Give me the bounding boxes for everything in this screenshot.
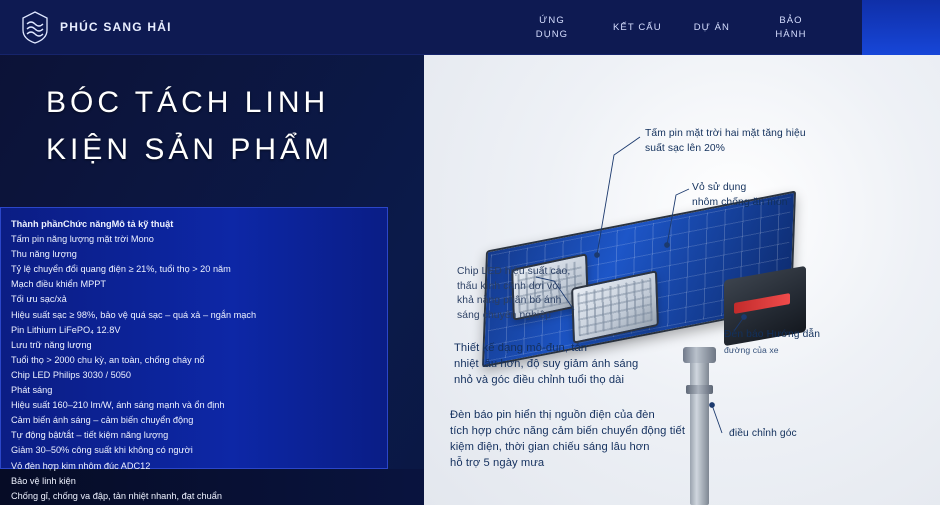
nav-item-ung-dung[interactable]: ỨNG DỤNG bbox=[523, 14, 581, 41]
page-title: BÓC TÁCH LINH KIỆN SẢN PHẨM bbox=[46, 80, 333, 173]
nav-item-ket-cau[interactable]: KẾT CẤU bbox=[613, 21, 662, 34]
brand-name: PHÚC SANG HẢI bbox=[60, 20, 172, 34]
spec-row: Chip LED Philips 3030 / 5050 bbox=[11, 368, 377, 383]
corner-accent-block bbox=[862, 0, 940, 55]
spec-row: Hiệu suất sạc ≥ 98%, bảo vệ quá sạc – qu… bbox=[11, 308, 377, 323]
callout-led-chip: Chip LED hiệu suất cao, thấu kính cánh d… bbox=[457, 265, 597, 323]
nav-item-du-an[interactable]: DỰ ÁN bbox=[694, 21, 730, 34]
spec-row: Bảo vệ linh kiện bbox=[11, 474, 377, 489]
callout-warning-light: Đèn báo Hướng dẫn đường của xe bbox=[724, 328, 854, 357]
callout-angle-adjust: điều chỉnh góc bbox=[729, 427, 849, 442]
callout-warning-light-sub: đường của xe bbox=[724, 343, 854, 358]
spec-row: Tỷ lệ chuyển đổi quang điện ≥ 21%, tuổi … bbox=[11, 262, 377, 277]
specification-panel: Thành phầnChức năngMô tả kỹ thuật Tấm pi… bbox=[0, 207, 388, 469]
wave-emblem-icon bbox=[18, 8, 52, 46]
nav-item-bao-hanh[interactable]: BẢO HÀNH bbox=[762, 14, 820, 41]
spec-row: Lưu trữ năng lượng bbox=[11, 338, 377, 353]
page-title-line-2: KIỆN SẢN PHẨM bbox=[46, 127, 333, 174]
spec-row: Hiệu suất 160–210 lm/W, ánh sáng mạnh và… bbox=[11, 398, 377, 413]
slide-root: PHÚC SANG HẢI ỨNG DỤNG KẾT CẤU DỰ ÁN BẢO… bbox=[0, 0, 940, 505]
spec-row: Mạch điều khiển MPPT bbox=[11, 277, 377, 292]
brand: PHÚC SANG HẢI bbox=[18, 8, 172, 46]
product-photo: Tấm pin mặt trời hai mặt tăng hiệu suất … bbox=[424, 55, 940, 505]
top-navigation-bar: PHÚC SANG HẢI ỨNG DỤNG KẾT CẤU DỰ ÁN BẢO… bbox=[0, 0, 940, 55]
spec-row: Cảm biến ánh sáng – cảm biến chuyển động bbox=[11, 413, 377, 428]
spec-row: Tuổi thọ > 2000 chu kỳ, an toàn, chống c… bbox=[11, 353, 377, 368]
spec-row: Giảm 30–50% công suất khi không có người bbox=[11, 443, 377, 458]
callout-housing: Vỏ sử dụng nhôm chống ăn mòn bbox=[692, 181, 832, 210]
page-title-line-1: BÓC TÁCH LINH bbox=[46, 80, 333, 127]
spec-row: Tự động bật/tắt – tiết kiệm năng lượng bbox=[11, 428, 377, 443]
callout-battery-indicator: Đèn báo pin hiển thị nguồn điện của đèn … bbox=[450, 407, 745, 471]
nav-menu: ỨNG DỤNG KẾT CẤU DỰ ÁN BẢO HÀNH bbox=[523, 0, 820, 55]
callout-warning-light-title: Đèn báo Hướng dẫn bbox=[724, 328, 854, 343]
spec-row: Vỏ đèn hợp kim nhôm đúc ADC12 bbox=[11, 459, 377, 474]
callout-solar-panel: Tấm pin mặt trời hai mặt tăng hiệu suất … bbox=[645, 127, 860, 156]
callout-modular-design: Thiết kế dạng mô-đun, tản nhiệt lâu hơn,… bbox=[454, 340, 719, 388]
spec-row: Pin Lithium LiFePO₄ 12.8V bbox=[11, 323, 377, 338]
spec-row: Chống gỉ, chống va đập, tản nhiệt nhanh,… bbox=[11, 489, 377, 504]
spec-row: Thu năng lượng bbox=[11, 247, 377, 262]
spec-row: Tối ưu sạc/xả bbox=[11, 292, 377, 307]
spec-row: Phát sáng bbox=[11, 383, 377, 398]
spec-row: Thành phầnChức năngMô tả kỹ thuật bbox=[11, 217, 377, 232]
spec-row: Tấm pin năng lượng mặt trời Mono bbox=[11, 232, 377, 247]
